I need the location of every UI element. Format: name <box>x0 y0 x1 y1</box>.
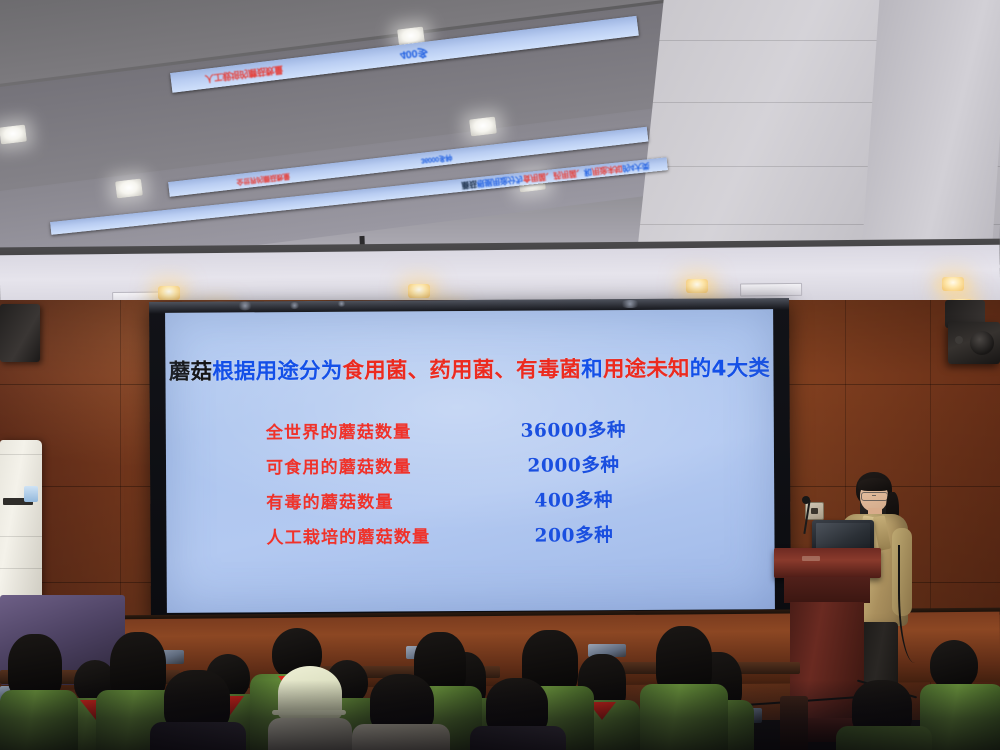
presentation-slide: 蘑菇根据用途分为食用菌、药用菌、有毒菌和用途未知的4大类 全世界的蘑菇数量 36… <box>165 309 775 613</box>
floor-air-conditioner <box>0 440 42 602</box>
wall-speaker-left <box>0 304 40 362</box>
ceiling-downlight <box>408 284 430 298</box>
ceiling-square-light <box>0 124 27 144</box>
ceiling-square-light <box>115 178 143 198</box>
ceiling-downlight <box>158 286 180 300</box>
audience <box>0 600 1000 750</box>
ceiling-square-light <box>469 116 497 136</box>
wall-speaker-right <box>948 322 1000 364</box>
ceiling-downlight <box>686 279 708 293</box>
lecture-hall-photo: 人工栽培的蘑菇数量 400多 全世界的蘑菇数量 36000多种 蘑菇 根据用途分… <box>0 0 1000 750</box>
ceiling: 人工栽培的蘑菇数量 400多 全世界的蘑菇数量 36000多种 蘑菇 根据用途分… <box>0 0 1000 268</box>
ceiling-downlight <box>942 277 964 291</box>
microphone-icon <box>802 496 810 504</box>
ceiling-corner-panel <box>861 0 1000 268</box>
air-vent-grille <box>740 283 802 297</box>
projection-screen-frame: 蘑菇根据用途分为食用菌、药用菌、有毒菌和用途未知的4大类 全世界的蘑菇数量 36… <box>149 298 791 624</box>
eyeglasses-icon <box>861 492 888 501</box>
